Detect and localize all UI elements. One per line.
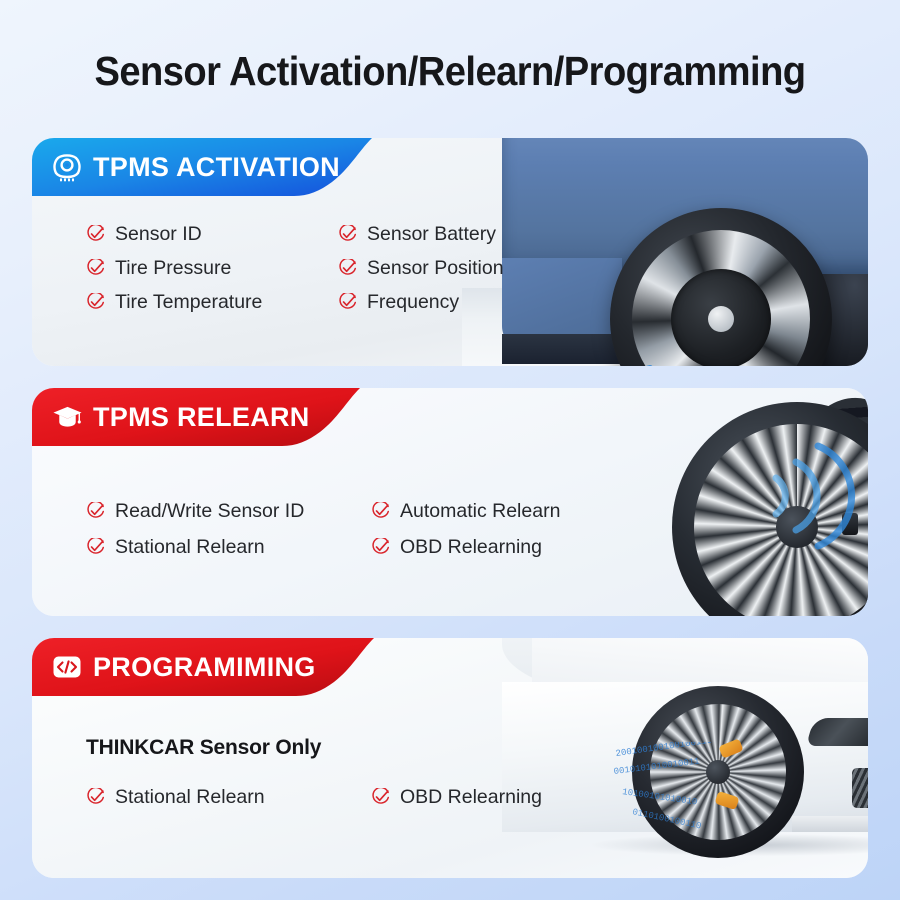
circle-check-icon (371, 502, 390, 521)
banner-label: TPMS ACTIVATION (93, 152, 340, 183)
tpms-sensor-icon (50, 150, 84, 184)
circle-check-icon (338, 293, 357, 312)
programming-subheading: THINKCAR Sensor Only (86, 736, 321, 760)
signal-waves-icon (722, 430, 862, 560)
circle-check-icon (371, 538, 390, 557)
circle-check-icon (86, 293, 105, 312)
feature-label: Tire Temperature (115, 291, 262, 314)
feature-label: Sensor ID (115, 223, 202, 246)
banner-programming: PROGRAMIMING (32, 638, 374, 696)
card-programming: 200100100100100110 0010101010010011 1010… (32, 638, 868, 878)
feature-item: Frequency (338, 291, 504, 314)
feature-item: Sensor Position (338, 257, 504, 280)
feature-item: Stational Relearn (86, 536, 351, 559)
feature-label: Frequency (367, 291, 459, 314)
banner-label: TPMS RELEARN (93, 402, 310, 433)
feature-label: Tire Pressure (115, 257, 231, 280)
circle-check-icon (86, 788, 105, 807)
feature-list-programming: Stational Relearn OBD Relearning (86, 786, 542, 809)
banner-tpms-relearn: TPMS RELEARN (32, 388, 360, 446)
feature-item: Read/Write Sensor ID (86, 500, 351, 523)
card-tpms-relearn: THINKCAR THINKCAR V1.1.1 ▲ ⏻ ▼ OK VGP4U+… (32, 388, 868, 616)
feature-label: OBD Relearning (400, 536, 542, 559)
graduation-cap-icon (50, 400, 84, 434)
feature-item: Automatic Relearn (371, 500, 560, 523)
circle-check-icon (338, 225, 357, 244)
feature-item: Sensor Battery (338, 223, 504, 246)
feature-list-activation: Sensor ID Sensor Battery Tire Pressure S… (86, 223, 504, 314)
feature-item: OBD Relearning (371, 536, 560, 559)
circle-check-icon (86, 538, 105, 557)
feature-label: Stational Relearn (115, 536, 265, 559)
circle-check-icon (86, 502, 105, 521)
feature-item: Tire Temperature (86, 291, 318, 314)
feature-label: Sensor Position (367, 257, 504, 280)
feature-label: Stational Relearn (115, 786, 265, 809)
circle-check-icon (338, 259, 357, 278)
feature-list-relearn: Read/Write Sensor ID Automatic Relearn S… (86, 500, 560, 559)
feature-item: Tire Pressure (86, 257, 318, 280)
signal-waves-icon (632, 338, 752, 366)
feature-label: Automatic Relearn (400, 500, 560, 523)
circle-check-icon (86, 259, 105, 278)
feature-item: OBD Relearning (371, 786, 542, 809)
circle-check-icon (371, 788, 390, 807)
feature-label: Read/Write Sensor ID (115, 500, 304, 523)
feature-label: Sensor Battery (367, 223, 496, 246)
circle-check-icon (86, 225, 105, 244)
feature-label: OBD Relearning (400, 786, 542, 809)
feature-item: Stational Relearn (86, 786, 351, 809)
card-tpms-activation: TPMS ACTIVATION Sensor ID Sensor Battery… (32, 138, 868, 366)
page-title: Sensor Activation/Relearn/Programming (32, 48, 869, 95)
banner-tpms-activation: TPMS ACTIVATION (32, 138, 372, 196)
banner-label: PROGRAMIMING (93, 652, 316, 683)
code-brackets-icon (50, 650, 84, 684)
feature-item: Sensor ID (86, 223, 318, 246)
